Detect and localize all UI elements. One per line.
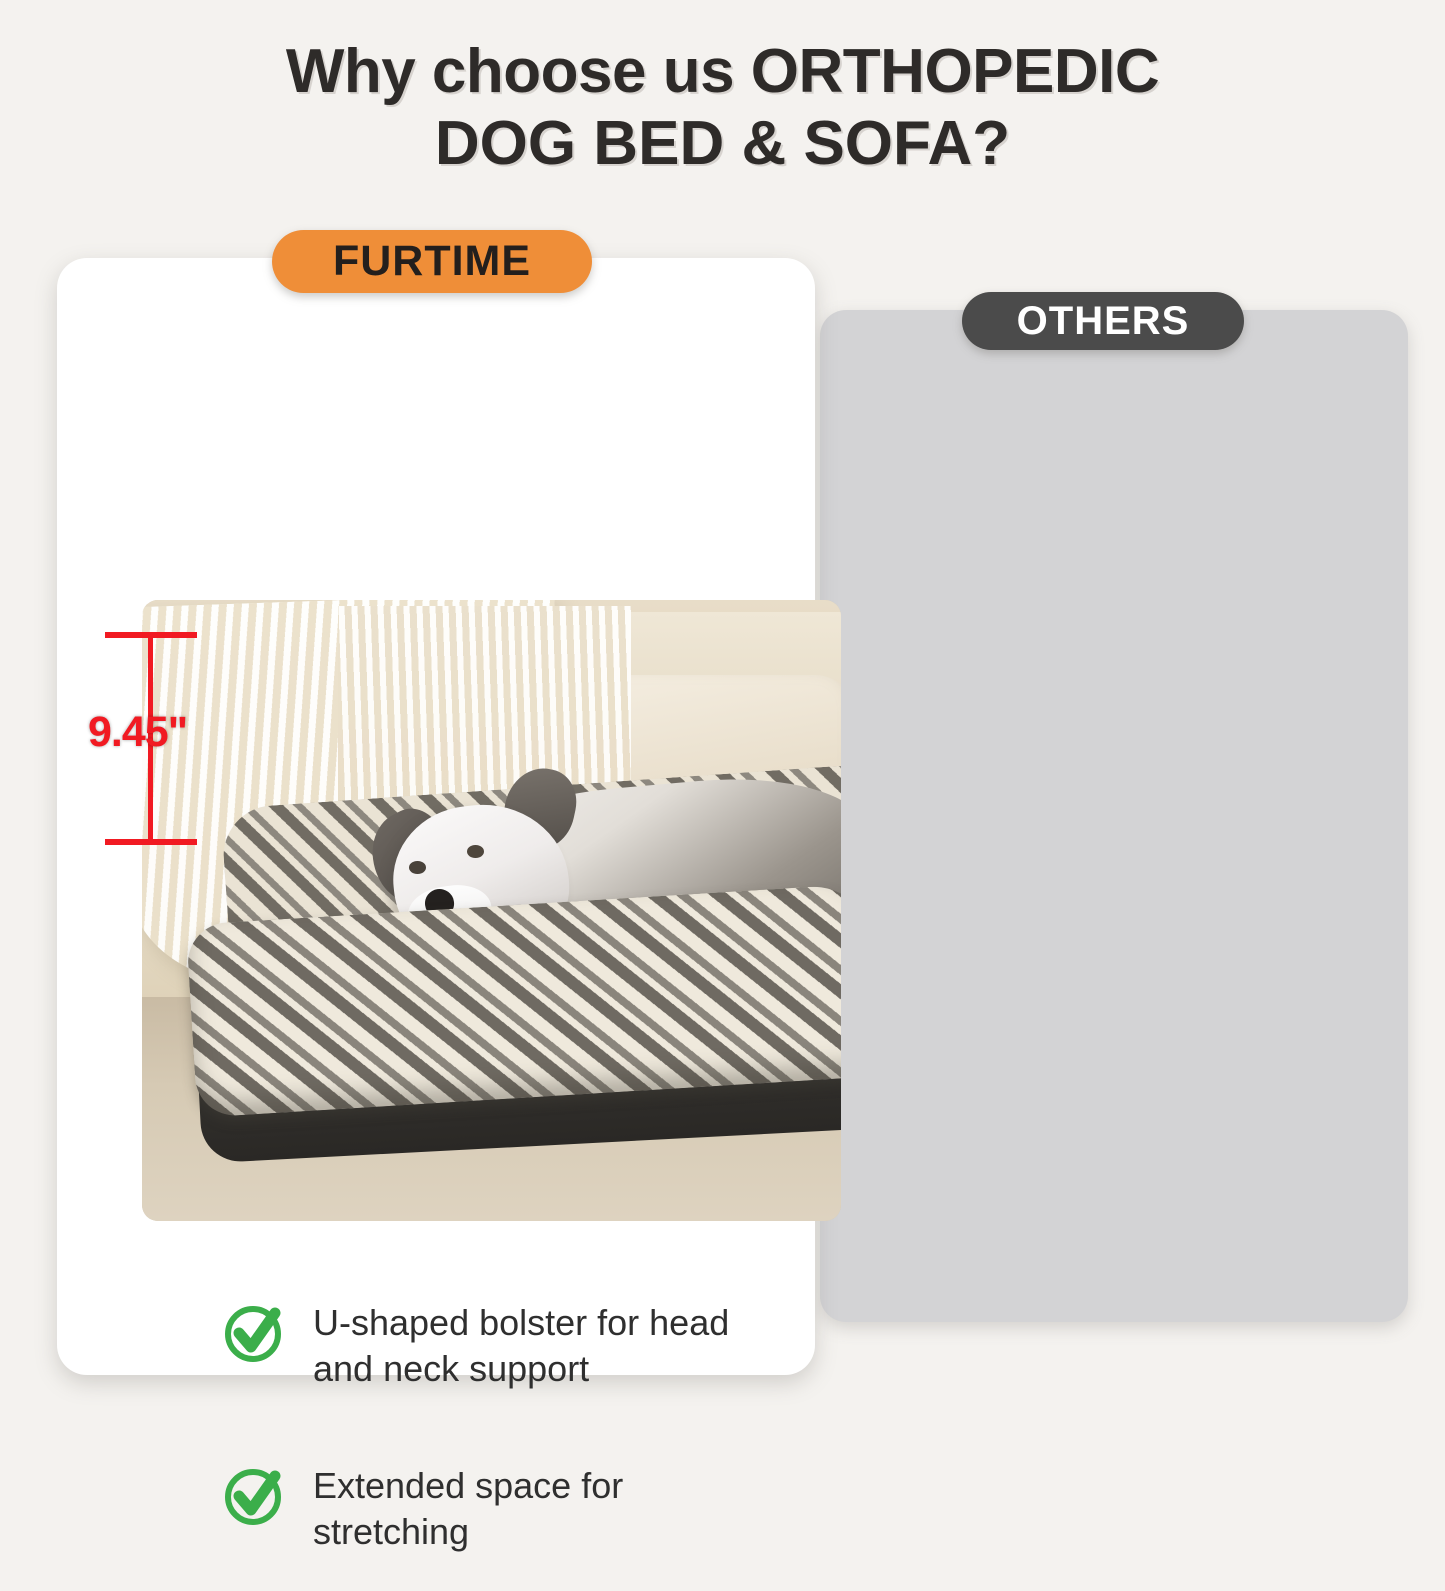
page-title-line-2: DOG BED & SOFA? <box>0 108 1445 180</box>
check-circle-icon <box>223 1300 287 1364</box>
check-circle-icon <box>223 1463 287 1527</box>
page-title-line-1: Why choose us ORTHOPEDIC <box>0 36 1445 108</box>
furtime-product-photo <box>142 600 841 1221</box>
furtime-photo-scene <box>142 600 841 1221</box>
pro-item-2: Extended space for stretching <box>223 1463 773 1555</box>
pro-item-1: U-shaped bolster for head and neck suppo… <box>223 1300 773 1392</box>
furtime-badge-label: FURTIME <box>333 237 531 286</box>
photo-collie-eye-left <box>409 861 426 874</box>
furtime-badge: FURTIME <box>272 230 592 293</box>
page-title: Why choose us ORTHOPEDIC DOG BED & SOFA? <box>0 36 1445 180</box>
photo-u-shaped-bolster <box>186 884 841 1118</box>
bed-height-label: 9.45" <box>88 708 187 757</box>
pro-item-2-label: Extended space for stretching <box>313 1463 773 1555</box>
others-badge: OTHERS <box>962 292 1244 350</box>
others-comparison-card: Neck injury without support Borderless c… <box>820 310 1408 1322</box>
others-badge-label: OTHERS <box>1017 299 1190 344</box>
pro-item-1-label: U-shaped bolster for head and neck suppo… <box>313 1300 773 1392</box>
dimension-cap-bottom <box>105 839 197 845</box>
